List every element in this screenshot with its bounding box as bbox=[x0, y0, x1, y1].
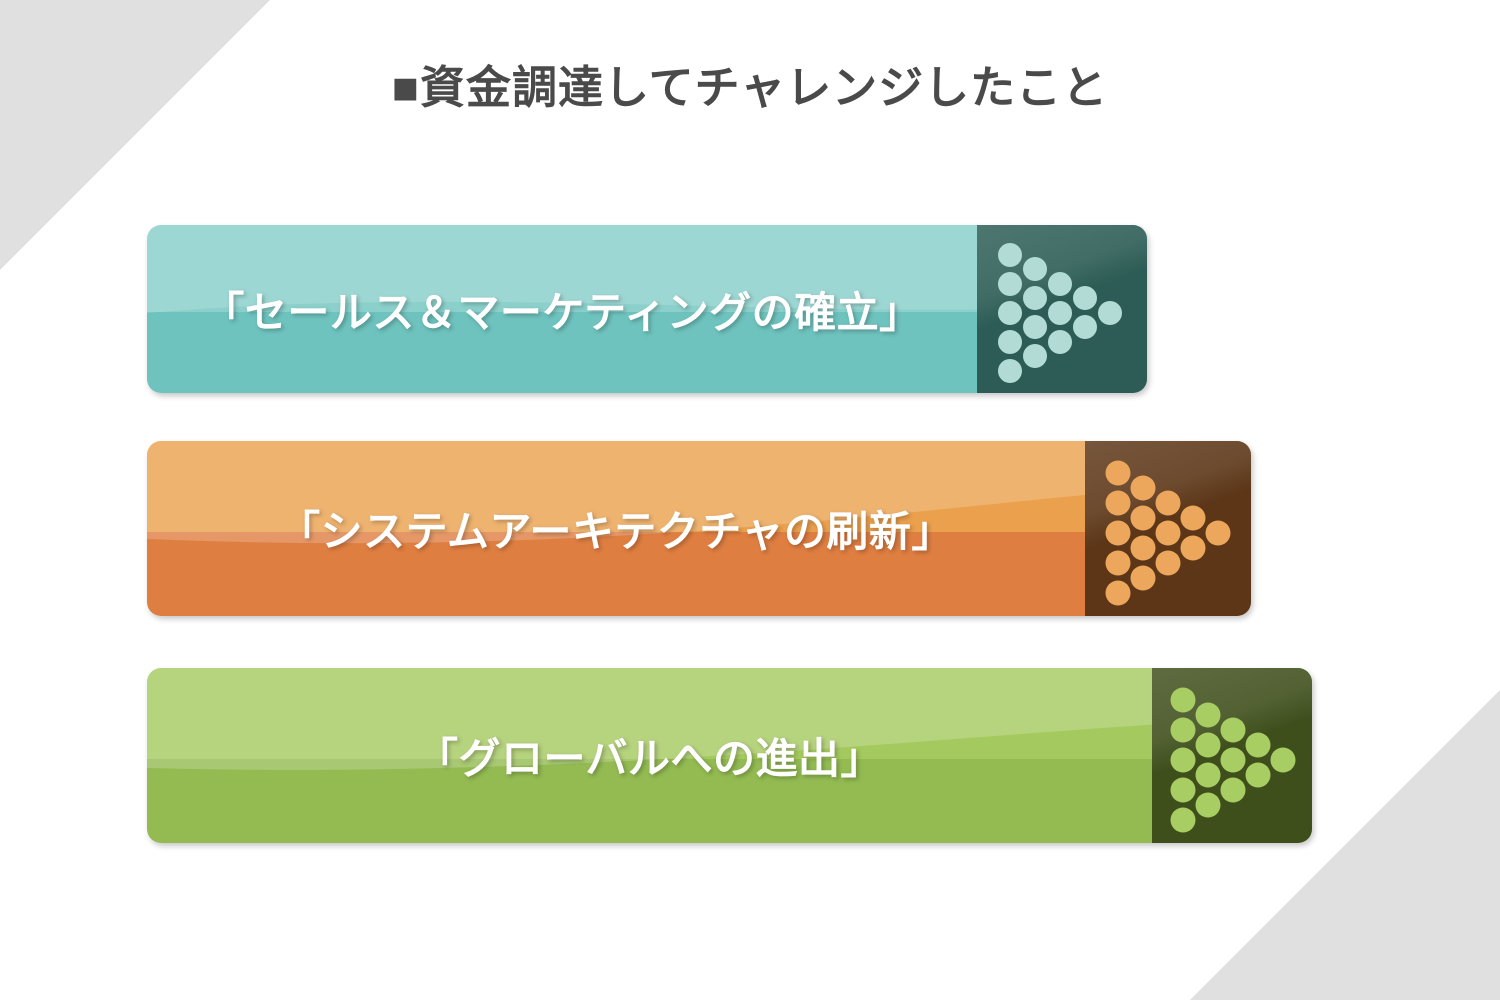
bar-body bbox=[147, 668, 1312, 843]
arrow-panel bbox=[1152, 668, 1312, 843]
bar-fill-bottom bbox=[147, 759, 1312, 843]
arrow-panel bbox=[1085, 441, 1251, 616]
challenge-bar-sales-marketing[interactable]: 「セールス＆マーケティングの確立」 bbox=[147, 225, 1147, 393]
arrow-dots-icon bbox=[1085, 441, 1251, 616]
page-title: ■資金調達してチャレンジしたこと bbox=[0, 62, 1500, 114]
bar-fill-top bbox=[147, 668, 1312, 759]
arrow-dots-icon bbox=[977, 225, 1147, 393]
arrow-dots-icon bbox=[1152, 668, 1312, 843]
slide-canvas: ■資金調達してチャレンジしたこと bbox=[0, 0, 1500, 1000]
challenge-bar-system-architecture[interactable]: 「システムアーキテクチャの刷新」 bbox=[147, 441, 1251, 616]
challenge-bar-global-expansion[interactable]: 「グローバルへの進出」 bbox=[147, 668, 1312, 843]
arrow-panel bbox=[977, 225, 1147, 393]
